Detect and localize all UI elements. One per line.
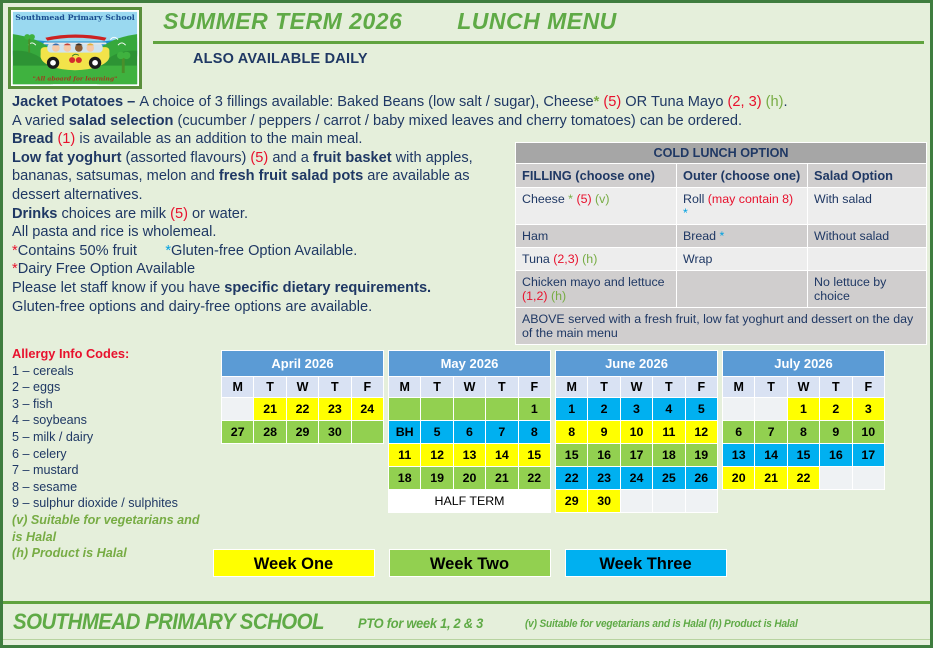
filling-name: Chicken mayo and lettuce [522, 275, 665, 289]
allergen-code: (2,3) [553, 252, 578, 266]
month-title: April 2026 [222, 351, 384, 377]
calendar-day-cell[interactable]: 2 [588, 398, 620, 421]
cell-filling: Tuna (2,3) (h) [516, 248, 677, 271]
calendar-day-cell[interactable]: 19 [685, 444, 717, 467]
calendar-day-cell[interactable]: 25 [653, 467, 685, 490]
yoghurt-text: (assorted flavours) [121, 150, 250, 166]
dessert-text: dessert alternatives. [12, 187, 143, 203]
salad-selection-label: salad selection [69, 113, 174, 129]
calendar-day-cell[interactable]: 13 [453, 444, 485, 467]
calendar-empty-cell [351, 421, 383, 444]
cell-filling: Chicken mayo and lettuce (1,2) (h) [516, 271, 677, 308]
calendar-week-row: 12345 [556, 398, 718, 421]
cell-salad [808, 248, 927, 271]
allergy-code-item: 6 – celery [12, 446, 217, 463]
dow-t1: T [421, 377, 453, 398]
dow-w: W [453, 377, 485, 398]
cell-outer [677, 271, 808, 308]
halal-marker: (h) [766, 94, 784, 110]
footer-halal-note: (v) Suitable for vegetarians and is Hala… [525, 618, 798, 630]
table-row: Tuna (2,3) (h) Wrap [516, 248, 927, 271]
calendar-day-cell[interactable]: 8 [556, 421, 588, 444]
drinks-text: choices are milk [57, 206, 170, 222]
calendar-day-cell[interactable]: 17 [620, 444, 652, 467]
dow-m: M [723, 377, 755, 398]
calendar-empty-cell [389, 398, 421, 421]
calendar-empty-cell [723, 398, 755, 421]
calendar-day-cell[interactable]: 19 [421, 467, 453, 490]
calendar-day-cell[interactable]: 18 [653, 444, 685, 467]
legend-week-two[interactable]: Week Two [389, 549, 551, 577]
allergy-code-item: 9 – sulphur dioxide / sulphites [12, 495, 217, 512]
cold-lunch-note: ABOVE served with a fresh fruit, low fat… [516, 308, 927, 345]
calendar-day-cell[interactable]: 17 [852, 444, 884, 467]
allergy-heading: Allergy Info Codes: [12, 346, 217, 363]
calendar-day-cell[interactable]: 24 [620, 467, 652, 490]
calendar-day-cell[interactable]: 6 [723, 421, 755, 444]
calendar-week-row: 1314151617 [723, 444, 885, 467]
legend-week-three[interactable]: Week Three [565, 549, 727, 577]
footer-pto-note: PTO for week 1, 2 & 3 [358, 615, 483, 631]
contains-fruit-text: Contains 50% fruit [18, 243, 137, 259]
calendar-day-cell[interactable]: 14 [755, 444, 787, 467]
calendar-empty-cell [222, 398, 254, 421]
salad-text2: (cucumber / peppers / carrot / baby mixe… [173, 113, 742, 129]
cold-lunch-title: COLD LUNCH OPTION [516, 143, 927, 164]
page-header: Southmead Primary School "All aboard for… [3, 3, 930, 91]
calendar-day-cell[interactable]: 15 [518, 444, 550, 467]
calendar-week-row: BH5678 [389, 421, 551, 444]
calendar-day-cell[interactable]: 24 [351, 398, 383, 421]
calendar-empty-cell [755, 398, 787, 421]
allergy-code-item: 2 – eggs [12, 379, 217, 396]
dow-t2: T [653, 377, 685, 398]
cold-lunch-table: COLD LUNCH OPTION FILLING (choose one) O… [515, 142, 927, 345]
calendar-table-may: May 2026 M T W T F 1BH567811121314151819… [388, 350, 551, 513]
vegetarian-marker: (v) [595, 192, 609, 206]
gluten-free-star: * [683, 206, 688, 220]
calendar-week-row: 27282930 [222, 421, 384, 444]
calendar-empty-cell [486, 398, 518, 421]
allergen-code: (5) [576, 192, 591, 206]
calendar-day-cell[interactable]: 11 [389, 444, 421, 467]
also-available-heading: ALSO AVAILABLE DAILY [193, 51, 368, 67]
calendar-day-cell[interactable]: 14 [486, 444, 518, 467]
dow-w: W [787, 377, 819, 398]
dow-w: W [620, 377, 652, 398]
halal-marker: (h) [551, 289, 566, 303]
calendar-week-row: 21222324 [222, 398, 384, 421]
dow-m: M [222, 377, 254, 398]
column-header-salad: Salad Option [808, 164, 927, 188]
calendar-day-cell[interactable]: 7 [755, 421, 787, 444]
salad-text: A varied [12, 113, 69, 129]
staff-text: Please let staff know if you have [12, 280, 224, 296]
outer-name: Roll [683, 192, 708, 206]
calendar-empty-cell [453, 398, 485, 421]
allergy-code-item: 3 – fish [12, 396, 217, 413]
calendar-day-cell[interactable]: 10 [852, 421, 884, 444]
calendar-day-cell[interactable]: 15 [787, 444, 819, 467]
calendar-week-row: 123 [723, 398, 885, 421]
calendar-day-cell[interactable]: 29 [286, 421, 318, 444]
dow-f: F [518, 377, 550, 398]
calendar-day-cell[interactable]: 22 [286, 398, 318, 421]
allergy-code-item: 1 – cereals [12, 363, 217, 380]
calendar-day-cell[interactable]: 23 [319, 398, 351, 421]
allergen-code: (1,2) [522, 289, 547, 303]
info-line-drinks: Drinks choices are milk (5) or water. [12, 205, 517, 224]
dow-f: F [852, 377, 884, 398]
page-footer: SOUTHMEAD PRIMARY SCHOOL PTO for week 1,… [3, 601, 930, 645]
allergen-code: (5) [170, 206, 188, 222]
calendar-table-june: June 2026 M T W T F 12345891011121516171… [555, 350, 718, 513]
calendar-july: July 2026 M T W T F 12367891013141516172… [722, 350, 885, 490]
calendar-week-row: 1 [389, 398, 551, 421]
info-line-options: Gluten-free options and dairy-free optio… [12, 298, 517, 317]
cold-lunch-note-row: ABOVE served with a fresh fruit, low fat… [516, 308, 927, 345]
info-line-bread: Bread (1) is available as an addition to… [12, 130, 517, 149]
column-header-filling: FILLING (choose one) [516, 164, 677, 188]
calendar-april: April 2026 M T W T F 2122232427282930 [221, 350, 384, 444]
dietary-requirements-label: specific dietary requirements. [224, 280, 431, 296]
info-line-fruit-gluten: *Contains 50% fruit *Gluten-free Option … [12, 242, 517, 261]
dow-w: W [286, 377, 318, 398]
fruit-basket-label: fruit basket [313, 150, 392, 166]
calendar-day-cell[interactable]: 7 [486, 421, 518, 444]
jacket-potatoes-text: A choice of 3 fillings available: Baked … [139, 94, 593, 110]
calendar-day-cell[interactable]: 29 [556, 490, 588, 513]
calendar-june: June 2026 M T W T F 12345891011121516171… [555, 350, 718, 513]
calendar-day-cell[interactable]: 12 [685, 421, 717, 444]
calendar-day-cell[interactable]: 9 [820, 421, 852, 444]
calendar-day-cell[interactable]: 11 [653, 421, 685, 444]
allergy-code-item: 7 – mustard [12, 462, 217, 479]
allergen-code: (5) [603, 94, 621, 110]
calendar-day-cell[interactable]: 16 [588, 444, 620, 467]
month-title: May 2026 [389, 351, 551, 377]
info-line-pasta: All pasta and rice is wholemeal. [12, 223, 517, 242]
week-legend: Week One Week Two Week Three [3, 549, 933, 577]
info-line-staff: Please let staff know if you have specif… [12, 279, 517, 298]
fruit-basket-text: with apples, [392, 150, 473, 166]
dow-t2: T [486, 377, 518, 398]
calendar-day-cell[interactable]: 18 [389, 467, 421, 490]
filling-name: Tuna [522, 252, 553, 266]
calendar-day-cell[interactable]: 6 [453, 421, 485, 444]
filling-name: Ham [522, 229, 548, 243]
calendar-day-cell[interactable]: 28 [254, 421, 286, 444]
cell-filling: Cheese * (5) (v) [516, 188, 677, 225]
lunch-menu-page: Southmead Primary School "All aboard for… [0, 0, 933, 648]
dow-f: F [685, 377, 717, 398]
month-title: June 2026 [556, 351, 718, 377]
calendar-day-cell[interactable]: 20 [723, 467, 755, 490]
header-divider [153, 41, 924, 44]
calendar-day-cell[interactable]: 2 [820, 398, 852, 421]
calendar-day-cell[interactable]: 22 [518, 467, 550, 490]
cell-salad: Without salad [808, 225, 927, 248]
calendar-day-cell[interactable]: 9 [588, 421, 620, 444]
drinks-label: Drinks [12, 206, 57, 222]
calendar-may: May 2026 M T W T F 1BH567811121314151819… [388, 350, 551, 513]
halal-marker: (h) [582, 252, 597, 266]
calendar-empty-cell [820, 467, 852, 490]
calendar-table-july: July 2026 M T W T F 12367891013141516172… [722, 350, 885, 490]
calendar-day-cell[interactable]: 12 [421, 444, 453, 467]
calendar-empty-cell [620, 490, 652, 513]
cell-outer: Roll (may contain 8) * [677, 188, 808, 225]
calendar-day-cell[interactable]: 27 [222, 421, 254, 444]
legend-week-one[interactable]: Week One [213, 549, 375, 577]
dairy-free-text: Dairy Free Option Available [18, 261, 195, 277]
dow-m: M [389, 377, 421, 398]
jacket-potatoes-label: Jacket Potatoes – [12, 94, 139, 110]
bread-text: is available as an addition to the main … [75, 131, 362, 147]
calendar-day-cell[interactable]: 23 [588, 467, 620, 490]
calendar-empty-cell [421, 398, 453, 421]
daily-info-text: Jacket Potatoes – A choice of 3 fillings… [12, 93, 517, 316]
calendar-day-cell[interactable]: BH [389, 421, 421, 444]
header-titles: SUMMER TERM 2026 LUNCH MENU ALSO AVAILAB… [148, 3, 926, 91]
allergen-code: (5) [250, 150, 268, 166]
calendar-week-row: 1516171819 [556, 444, 718, 467]
table-row: Ham Bread * Without salad [516, 225, 927, 248]
calendar-day-cell[interactable]: 8 [518, 421, 550, 444]
day-header-row: M T W T F [222, 377, 384, 398]
gluten-free-text: Gluten-free Option Available. [171, 243, 357, 259]
vegetarian-note-line2: is Halal [12, 529, 217, 546]
allergy-info-panel: Allergy Info Codes: 1 – cereals 2 – eggs… [12, 346, 217, 562]
calendar-day-cell[interactable]: 21 [486, 467, 518, 490]
page-title: LUNCH MENU [148, 8, 926, 35]
calendar-day-cell[interactable]: 15 [556, 444, 588, 467]
day-header-row: M T W T F [556, 377, 718, 398]
calendar-day-cell[interactable]: 22 [556, 467, 588, 490]
allergen-code: (1) [57, 131, 75, 147]
column-header-outer: Outer (choose one) [677, 164, 808, 188]
info-line-fruit: bananas, satsumas, melon and fresh fruit… [12, 167, 517, 186]
fruit-text: bananas, satsumas, melon and [12, 168, 219, 184]
calendar-day-cell[interactable]: 10 [620, 421, 652, 444]
calendar-day-cell[interactable]: 1 [787, 398, 819, 421]
dow-m: M [556, 377, 588, 398]
allergy-code-item: 4 – soybeans [12, 412, 217, 429]
fruit-salad-pots-label: fresh fruit salad pots [219, 168, 363, 184]
day-header-row: M T W T F [389, 377, 551, 398]
footer-divider [3, 601, 930, 604]
cold-lunch-header-row: FILLING (choose one) Outer (choose one) … [516, 164, 927, 188]
dow-t1: T [755, 377, 787, 398]
calendar-day-cell[interactable]: 13 [723, 444, 755, 467]
jacket-potatoes-text2: OR Tuna Mayo [621, 94, 727, 110]
gluten-free-star: * [720, 229, 725, 243]
footer-school-name: SOUTHMEAD PRIMARY SCHOOL [13, 609, 324, 635]
pasta-text: All pasta and rice is wholemeal. [12, 224, 216, 240]
bread-label: Bread [12, 131, 53, 147]
dow-t2: T [319, 377, 351, 398]
logo-school-name: Southmead Primary School [15, 13, 135, 22]
calendar-half-term-row: HALF TERM [389, 490, 551, 513]
cell-salad: With salad [808, 188, 927, 225]
calendar-week-row: 678910 [723, 421, 885, 444]
outer-name: Wrap [683, 252, 712, 266]
calendar-empty-cell [852, 467, 884, 490]
dow-t2: T [820, 377, 852, 398]
info-line-dessert: dessert alternatives. [12, 186, 517, 205]
calendar-day-cell[interactable]: 4 [653, 398, 685, 421]
calendar-empty-cell [653, 490, 685, 513]
calendar-day-cell[interactable]: 3 [852, 398, 884, 421]
cell-outer: Bread * [677, 225, 808, 248]
calendar-week-row: 202122 [723, 467, 885, 490]
calendar-day-cell[interactable]: 1 [518, 398, 550, 421]
cell-salad: No lettuce by choice [808, 271, 927, 308]
day-header-row: M T W T F [723, 377, 885, 398]
calendar-day-cell[interactable]: 20 [453, 467, 485, 490]
calendar-day-cell[interactable]: 21 [254, 398, 286, 421]
yoghurt-label: Low fat yoghurt [12, 150, 121, 166]
calendar-day-cell[interactable]: 5 [685, 398, 717, 421]
calendar-table-april: April 2026 M T W T F 2122232427282930 [221, 350, 384, 444]
calendar-day-cell[interactable]: 8 [787, 421, 819, 444]
table-row: Cheese * (5) (v) Roll (may contain 8) * … [516, 188, 927, 225]
allergen-warning: (may contain 8) [708, 192, 793, 206]
info-line-jacket-potatoes: Jacket Potatoes – A choice of 3 fillings… [12, 93, 517, 112]
calendar-day-cell[interactable]: 26 [685, 467, 717, 490]
gap [137, 243, 165, 259]
outer-name: Bread [683, 229, 720, 243]
logo-motto: "All aboard for learning" [33, 76, 118, 83]
dow-f: F [351, 377, 383, 398]
school-logo-illustration: Southmead Primary School "All aboard for… [11, 10, 139, 86]
info-line-salad: A varied salad selection (cucumber / pep… [12, 112, 517, 131]
dow-t1: T [588, 377, 620, 398]
calendar-week-row: 2930 [556, 490, 718, 513]
cell-filling: Ham [516, 225, 677, 248]
table-row: Chicken mayo and lettuce (1,2) (h) No le… [516, 271, 927, 308]
calendar-week-row: 1819202122 [389, 467, 551, 490]
allergy-code-item: 5 – milk / dairy [12, 429, 217, 446]
calendar-day-cell[interactable]: 1 [556, 398, 588, 421]
drinks-text2: or water. [188, 206, 248, 222]
footer-divider-thin [3, 639, 930, 640]
dow-t1: T [254, 377, 286, 398]
info-line-yoghurt: Low fat yoghurt (assorted flavours) (5) … [12, 149, 517, 168]
calendar-day-cell[interactable]: 16 [820, 444, 852, 467]
school-logo: Southmead Primary School "All aboard for… [8, 7, 142, 89]
month-title: July 2026 [723, 351, 885, 377]
fruit-text2: are available as [363, 168, 469, 184]
half-term-label: HALF TERM [389, 490, 551, 513]
calendar-day-cell[interactable]: 3 [620, 398, 652, 421]
filling-name: Cheese [522, 192, 568, 206]
calendar-week-row: 1112131415 [389, 444, 551, 467]
options-text: Gluten-free options and dairy-free optio… [12, 299, 372, 315]
calendar-day-cell[interactable]: 5 [421, 421, 453, 444]
period: . [783, 94, 787, 110]
calendar-day-cell[interactable]: 22 [787, 467, 819, 490]
calendar-day-cell[interactable]: 21 [755, 467, 787, 490]
conj: and a [268, 150, 313, 166]
cell-outer: Wrap [677, 248, 808, 271]
allergen-code: (2, 3) [728, 94, 762, 110]
calendar-day-cell[interactable]: 30 [319, 421, 351, 444]
info-line-dairy-free: *Dairy Free Option Available [12, 260, 517, 279]
calendar-week-row: 89101112 [556, 421, 718, 444]
calendar-week-row: 2223242526 [556, 467, 718, 490]
allergy-code-item: 8 – sesame [12, 479, 217, 496]
vegetarian-note-line1: (v) Suitable for vegetarians and [12, 512, 217, 529]
calendar-empty-cell [685, 490, 717, 513]
calendar-day-cell[interactable]: 30 [588, 490, 620, 513]
